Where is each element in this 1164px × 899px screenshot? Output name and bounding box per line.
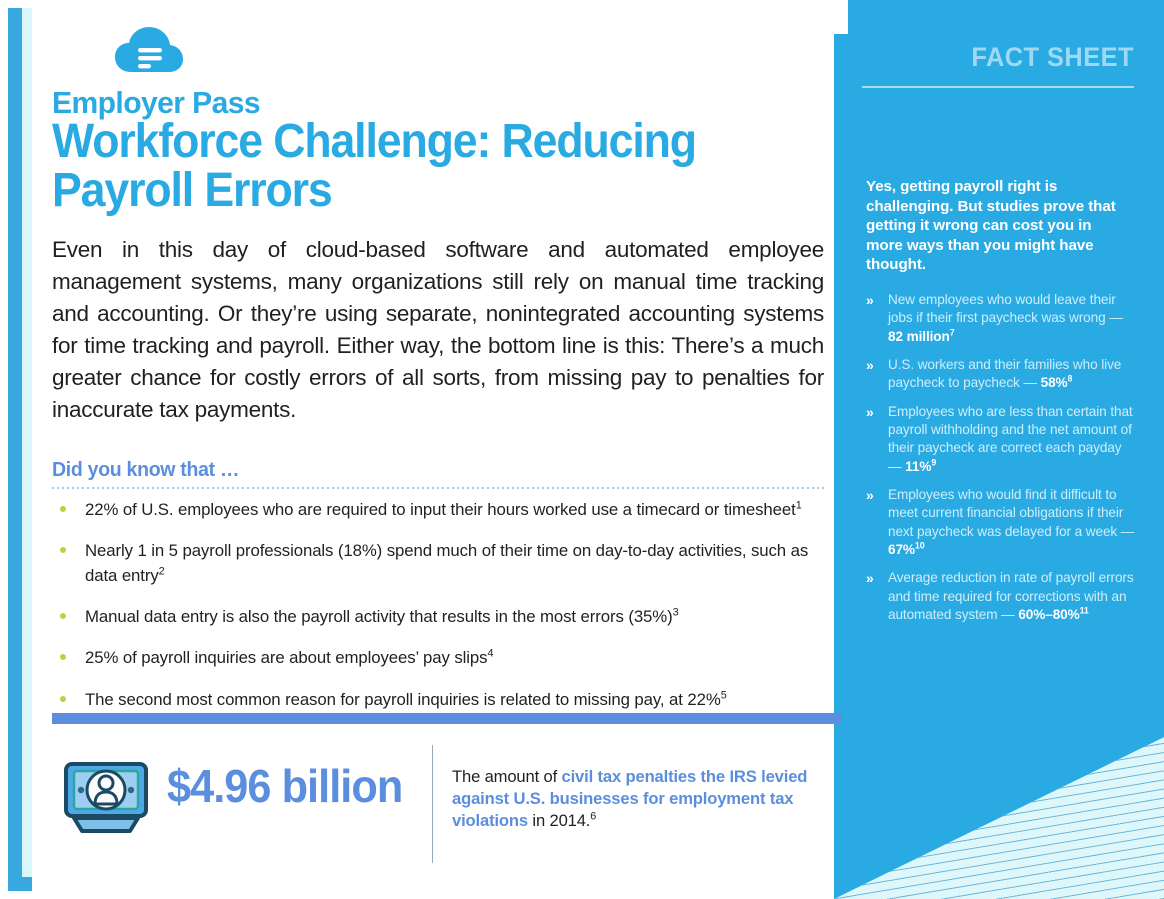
intro-paragraph: Even in this day of cloud-based software… bbox=[52, 234, 824, 426]
bullet-dot-icon bbox=[60, 613, 66, 619]
footnote-marker: 5 bbox=[721, 689, 727, 701]
section-separator-bar bbox=[52, 713, 842, 724]
sidebar-stat-value: 82 million7 bbox=[888, 329, 955, 344]
footnote-marker: 7 bbox=[950, 327, 955, 337]
vertical-divider bbox=[432, 745, 433, 863]
sidebar-stat-text: U.S. workers and their families who live… bbox=[888, 357, 1121, 390]
footnote-marker: 4 bbox=[487, 648, 493, 660]
diagonal-stripe-decoration bbox=[834, 723, 1164, 899]
did-you-know-rule bbox=[52, 487, 824, 489]
sidebar-stat-text: Employees who would find it difficult to… bbox=[888, 487, 1134, 539]
sidebar-stat-list: »New employees who would leave their job… bbox=[866, 291, 1138, 635]
double-chevron-icon: » bbox=[866, 356, 874, 375]
brand-logo: Employer Pass bbox=[52, 26, 372, 121]
footnote-marker: 2 bbox=[159, 565, 165, 577]
footnote-marker: 10 bbox=[915, 541, 925, 551]
highlight-description: The amount of civil tax penalties the IR… bbox=[452, 766, 820, 832]
highlight-band: $4.96 billion The amount of civil tax pe… bbox=[32, 733, 834, 873]
bullet-dot-icon bbox=[60, 547, 66, 553]
sidebar-stat-text: New employees who would leave their jobs… bbox=[888, 292, 1123, 325]
double-chevron-icon: » bbox=[866, 486, 874, 505]
sidebar-stat-item: »Employees who are less than certain tha… bbox=[866, 403, 1138, 476]
sidebar-stat-text: Average reduction in rate of payroll err… bbox=[888, 570, 1134, 622]
fact-list-item-text: 22% of U.S. employees who are required t… bbox=[85, 500, 796, 519]
sidebar-stat-item: »U.S. workers and their families who liv… bbox=[866, 356, 1138, 393]
footnote-marker: 9 bbox=[931, 457, 936, 467]
bullet-dot-icon bbox=[60, 506, 66, 512]
sidebar-stat-item: »New employees who would leave their job… bbox=[866, 291, 1138, 346]
footnote-marker: 6 bbox=[590, 811, 596, 823]
fact-list-item: 22% of U.S. employees who are required t… bbox=[52, 498, 842, 522]
highlight-text-lead: The amount of bbox=[452, 767, 562, 786]
fact-list-item-text: The second most common reason for payrol… bbox=[85, 690, 721, 709]
fact-list: 22% of U.S. employees who are required t… bbox=[52, 498, 842, 729]
sidebar-stat-value: 67%10 bbox=[888, 542, 925, 557]
left-frame-glow bbox=[22, 8, 32, 891]
footnote-marker: 3 bbox=[673, 606, 679, 618]
sidebar-stat-value: 58%8 bbox=[1041, 375, 1073, 390]
fact-list-item-text: Nearly 1 in 5 payroll professionals (18%… bbox=[85, 541, 808, 584]
sidebar-stat-item: »Average reduction in rate of payroll er… bbox=[866, 569, 1138, 624]
highlight-amount: $4.96 billion bbox=[167, 759, 402, 813]
fact-sheet-page: FACT SHEET Yes, getting payroll right is… bbox=[0, 0, 1164, 899]
highlight-text-tail: in 2014. bbox=[528, 811, 590, 830]
sidebar-stat-value: 11%9 bbox=[905, 459, 936, 474]
double-chevron-icon: » bbox=[866, 291, 874, 310]
bullet-dot-icon bbox=[60, 696, 66, 702]
did-you-know-heading: Did you know that … bbox=[52, 458, 239, 482]
fact-sheet-label: FACT SHEET bbox=[880, 42, 1134, 73]
double-chevron-icon: » bbox=[866, 569, 874, 588]
footnote-marker: 11 bbox=[1080, 606, 1089, 616]
bullet-dot-icon bbox=[60, 654, 66, 660]
page-title: Workforce Challenge: Reducing Payroll Er… bbox=[52, 118, 740, 216]
fact-list-item: Manual data entry is also the payroll ac… bbox=[52, 605, 842, 629]
footnote-marker: 8 bbox=[1068, 374, 1073, 384]
double-chevron-icon: » bbox=[866, 403, 874, 422]
money-banknote-person-icon bbox=[60, 758, 152, 843]
fact-list-item-text: Manual data entry is also the payroll ac… bbox=[85, 607, 673, 626]
left-frame-bar bbox=[8, 8, 22, 891]
sidebar-intro-text: Yes, getting payroll right is challengin… bbox=[866, 177, 1124, 275]
cloud-document-icon bbox=[114, 26, 372, 81]
fact-list-item: 25% of payroll inquiries are about emplo… bbox=[52, 646, 842, 670]
fact-sheet-rule bbox=[862, 86, 1134, 88]
sidebar-stat-item: »Employees who would find it difficult t… bbox=[866, 486, 1138, 559]
fact-list-item: Nearly 1 in 5 payroll professionals (18%… bbox=[52, 539, 842, 588]
stripe-lines bbox=[834, 723, 1164, 899]
sidebar-stat-value: 60%–80%11 bbox=[1018, 607, 1088, 622]
footnote-marker: 1 bbox=[796, 499, 802, 511]
panel-notch bbox=[834, 0, 848, 34]
fact-list-item-text: 25% of payroll inquiries are about emplo… bbox=[85, 648, 487, 667]
fact-list-item: The second most common reason for payrol… bbox=[52, 688, 842, 712]
